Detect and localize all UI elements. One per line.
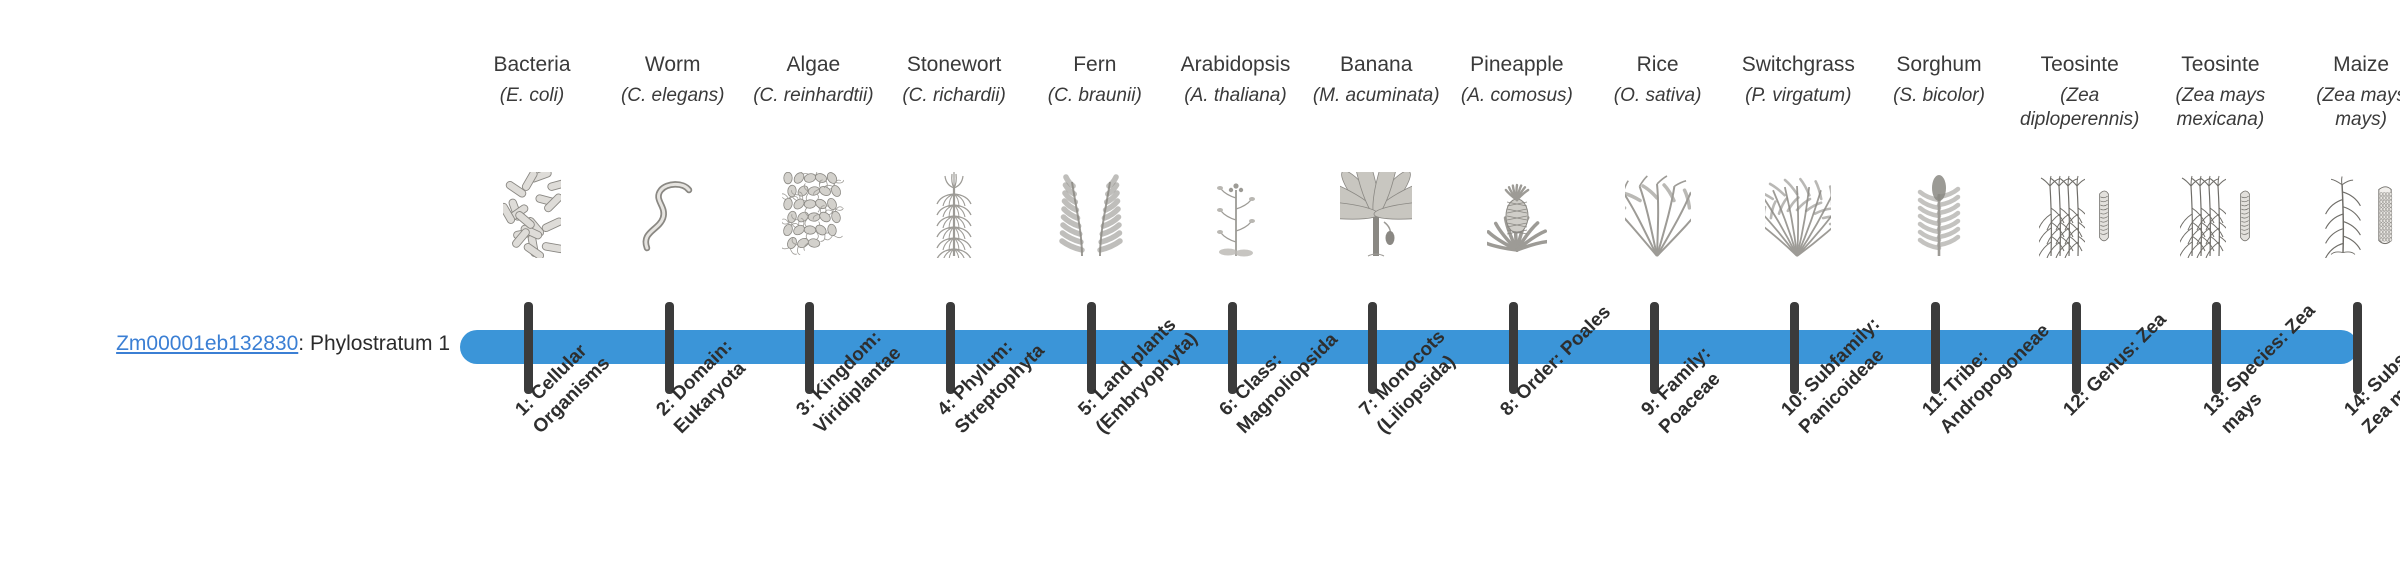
phylostratum-tick xyxy=(2072,302,2081,394)
phylostratum-tick xyxy=(1228,302,1237,394)
phylostratum-tick xyxy=(1509,302,1518,394)
phylostratum-tick xyxy=(524,302,533,394)
phylostratum-diagram: Zm00001eb132830: Phylostratum 1 Bacteria… xyxy=(0,0,2400,580)
phylostratum-tick xyxy=(946,302,955,394)
phylostratum-tick xyxy=(2353,302,2362,394)
phylostratum-tick xyxy=(1087,302,1096,394)
phylostratum-tick xyxy=(665,302,674,394)
phylostratum-tick xyxy=(1650,302,1659,394)
phylostratum-tick xyxy=(1931,302,1940,394)
